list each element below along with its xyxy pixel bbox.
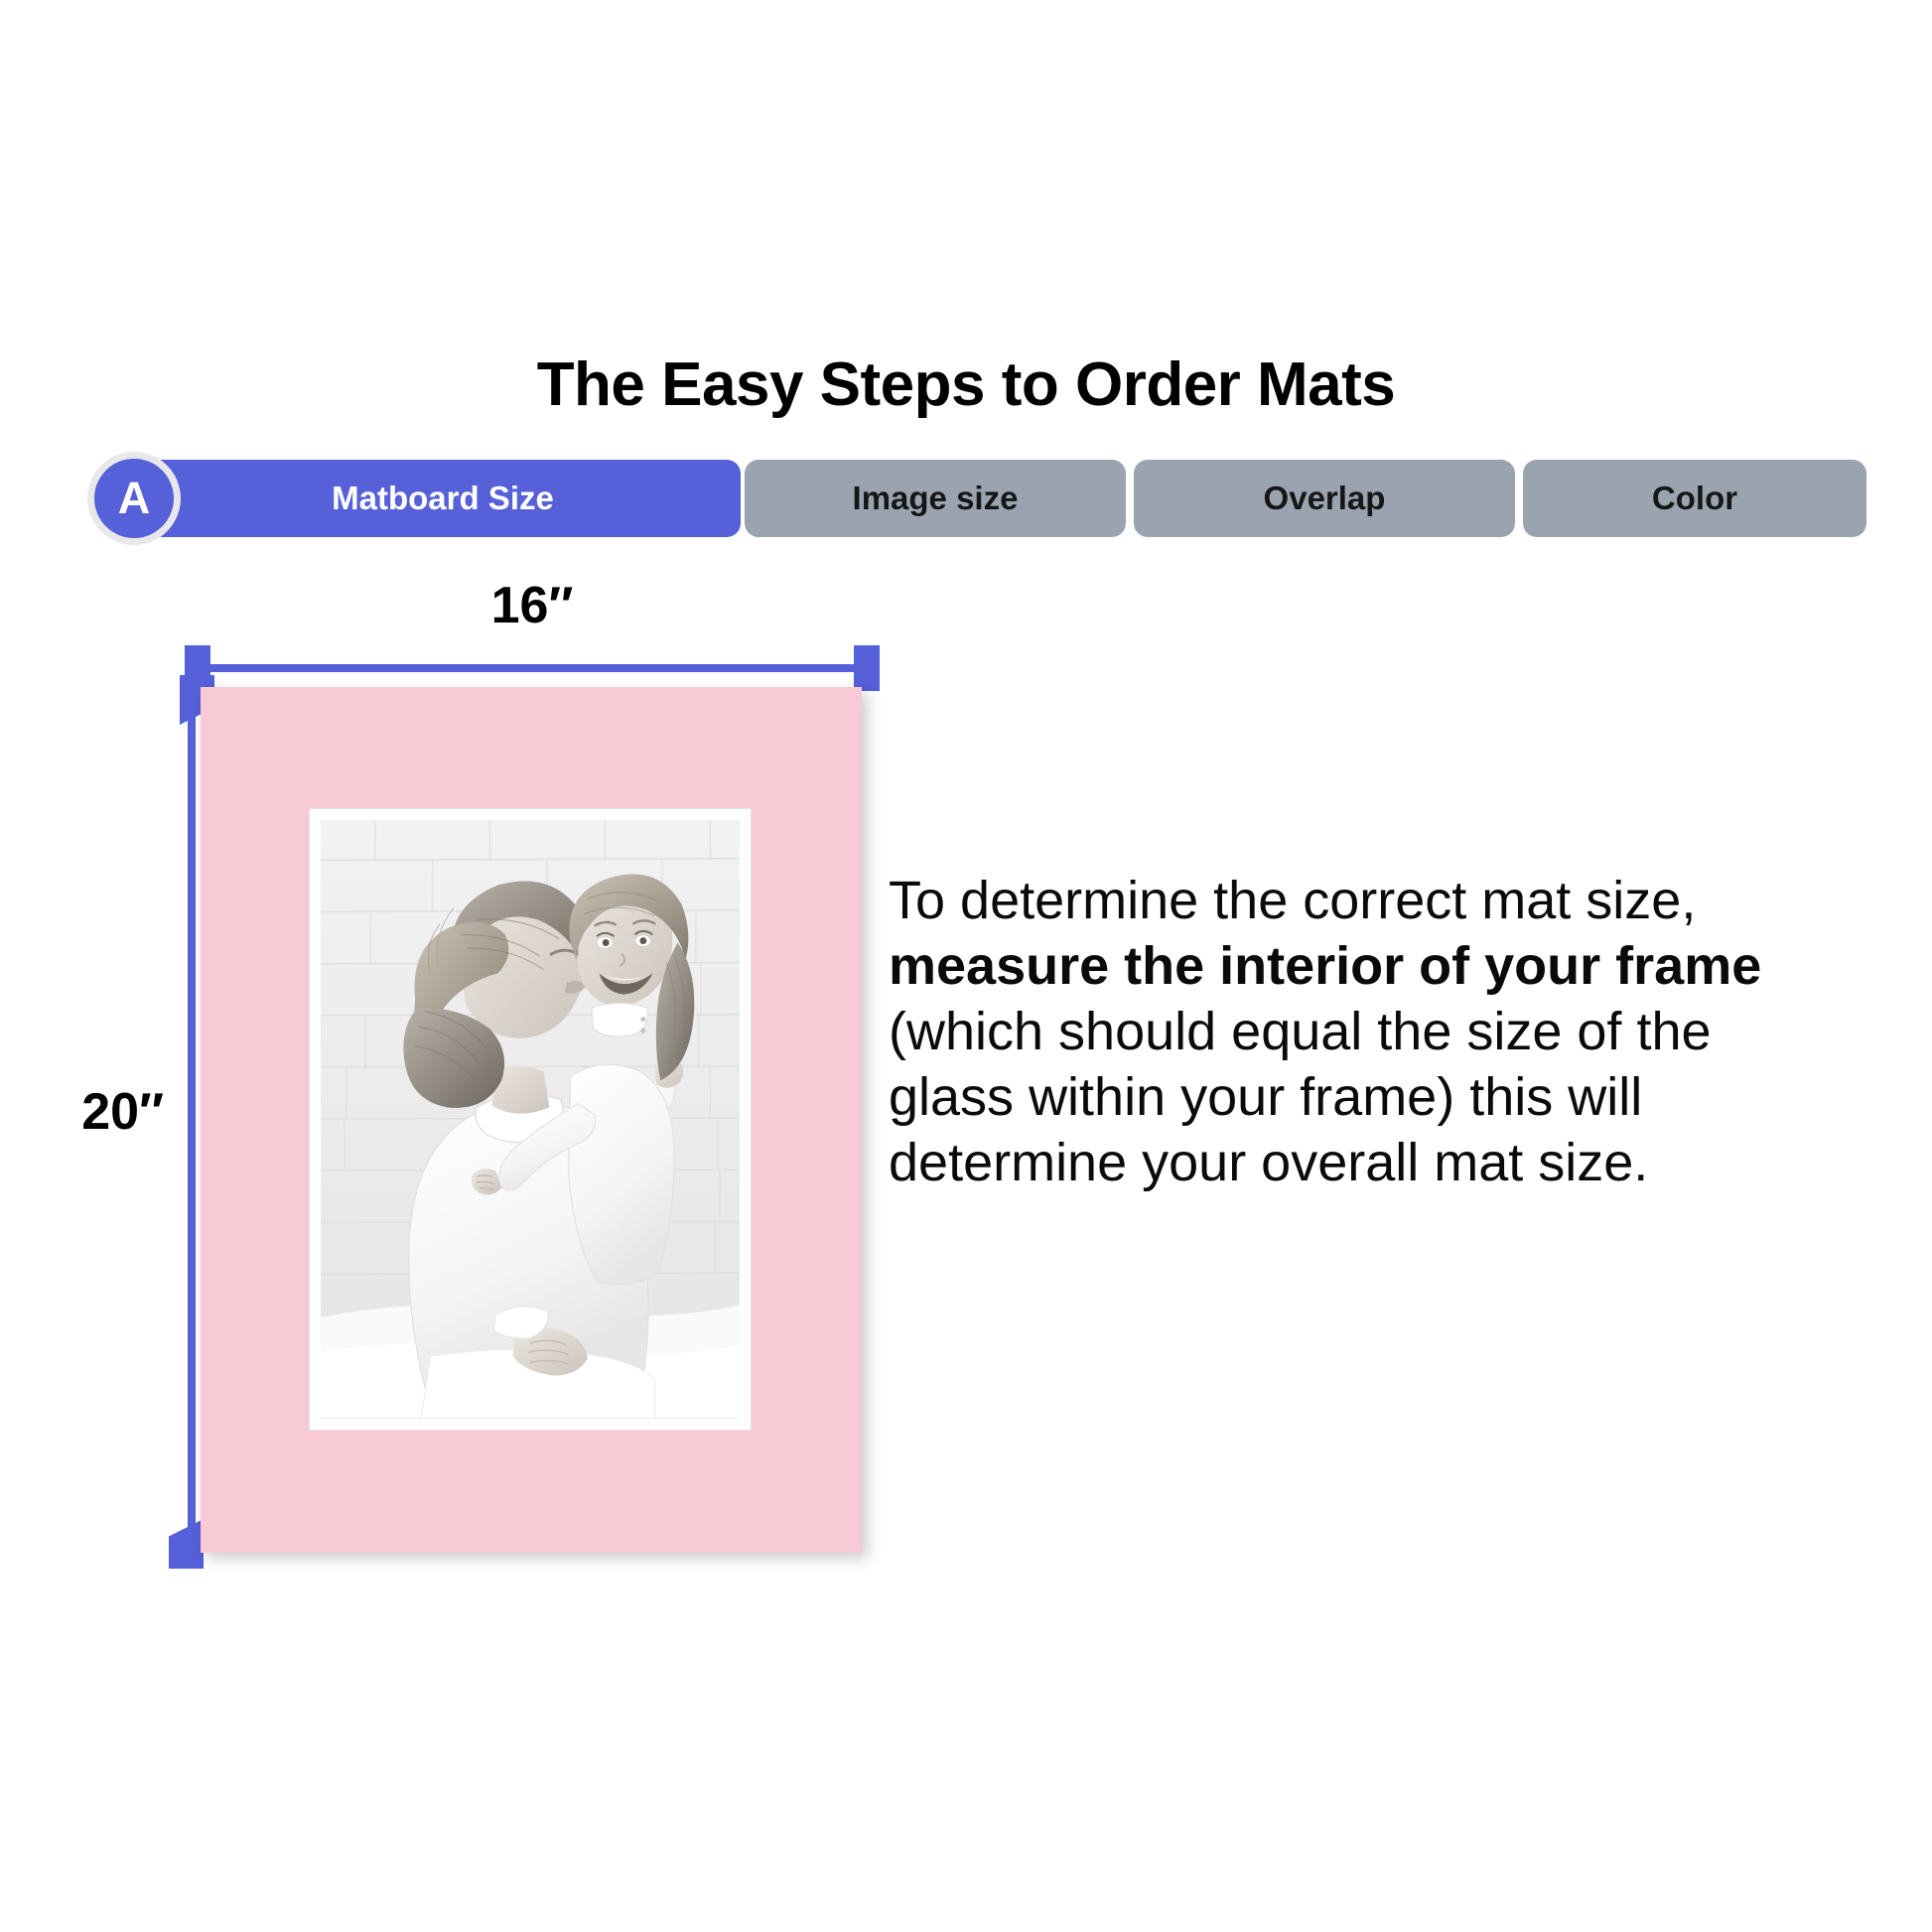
- tab-matboard-size[interactable]: Matboard Size: [145, 460, 741, 537]
- matboard-figure: [201, 687, 862, 1553]
- tab-overlap[interactable]: Overlap: [1134, 460, 1515, 537]
- tab-overlap-label: Overlap: [1264, 480, 1386, 517]
- tab-image-size-label: Image size: [853, 480, 1019, 517]
- step-badge-a: A: [87, 452, 181, 545]
- tab-color[interactable]: Color: [1523, 460, 1866, 537]
- page-title: The Easy Steps to Order Mats: [0, 349, 1932, 420]
- width-dimension-arrow-icon: [185, 645, 880, 691]
- tab-color-label: Color: [1652, 480, 1737, 517]
- tab-image-size[interactable]: Image size: [745, 460, 1126, 537]
- description-part2: (which should equal the size of the glas…: [889, 1002, 1712, 1192]
- photo-bevel-border: [310, 809, 751, 1430]
- height-dimension-label: 20″: [10, 1082, 164, 1142]
- width-dimension-label: 16″: [185, 576, 880, 635]
- tab-matboard-size-label: Matboard Size: [332, 480, 554, 517]
- description-part1: To determine the correct mat size,: [889, 871, 1696, 930]
- description-emphasis: measure the interior of your frame: [889, 936, 1761, 996]
- photo-opening: [321, 820, 740, 1419]
- description-text: To determine the correct mat size, measu…: [889, 869, 1812, 1195]
- steps-tab-bar: A Matboard Size Image size Overlap Color: [87, 452, 1866, 545]
- step-badge-label: A: [118, 476, 151, 520]
- mother-and-daughter-photo-icon: [321, 820, 740, 1419]
